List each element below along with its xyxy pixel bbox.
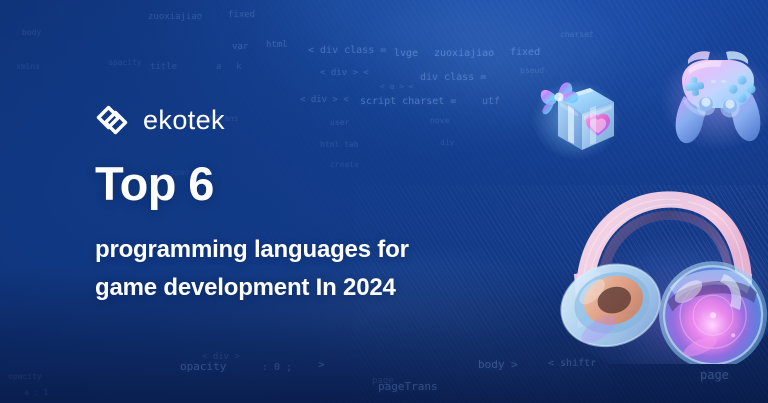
headline-subtitle: programming languages for game developme… — [95, 231, 515, 307]
brand-name: ekotek — [143, 105, 225, 136]
promo-banner: zuoxiajiaofixedbodyvarhtml< div class =l… — [0, 0, 768, 403]
headline-subtitle-line2: game development In 2024 — [95, 269, 515, 307]
game-controller-icon — [658, 44, 768, 154]
headphones-icon — [538, 178, 768, 364]
headline-title: Top 6 — [95, 160, 515, 207]
ekotek-logo-icon — [94, 102, 130, 138]
headline-block: Top 6 programming languages for game dev… — [95, 160, 515, 307]
headline-subtitle-line1: programming languages for — [95, 231, 515, 269]
brand-logo[interactable]: ekotek — [94, 102, 225, 138]
gift-box-icon — [528, 66, 620, 160]
